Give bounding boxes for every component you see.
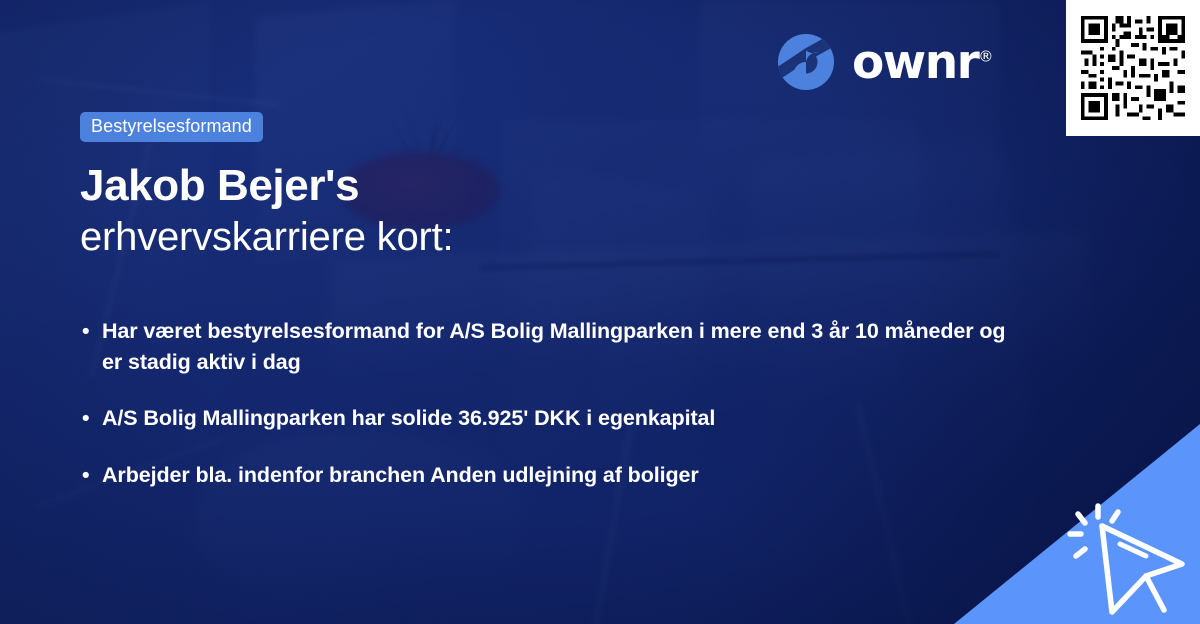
title-name: Jakob Bejer's [80, 162, 980, 210]
office-background-photo [0, 0, 1200, 624]
qr-code-panel[interactable] [1066, 0, 1200, 136]
click-cursor-icon [1060, 496, 1190, 616]
list-item: • Har været bestyrelsesformand for A/S B… [82, 316, 1022, 378]
ownr-wordmark: ownr® [852, 39, 993, 86]
bullet-dot-icon: • [82, 316, 102, 347]
bullet-dot-icon: • [82, 403, 102, 434]
business-card-banner: ownr® Bestyrelsesformand Jakob Bejer's e… [0, 0, 1200, 624]
list-item-text: Arbejder bla. indenfor branchen Anden ud… [102, 460, 1022, 491]
list-item: • Arbejder bla. indenfor branchen Anden … [82, 460, 1022, 491]
list-item: • A/S Bolig Mallingparken har solide 36.… [82, 403, 1022, 434]
wordmark-text: ownr [852, 35, 978, 90]
ownr-circle-swoosh-icon [776, 32, 836, 92]
bullet-dot-icon: • [82, 460, 102, 491]
headline-block: Bestyrelsesformand Jakob Bejer's erhverv… [80, 112, 980, 260]
list-item-text: Har været bestyrelsesformand for A/S Bol… [102, 316, 1022, 378]
title-subtitle: erhvervskarriere kort: [80, 214, 980, 260]
qr-code-icon[interactable] [1077, 12, 1189, 124]
career-facts-list: • Har været bestyrelsesformand for A/S B… [82, 316, 1022, 491]
background-vignette [0, 0, 1200, 624]
page-title: Jakob Bejer's erhvervskarriere kort: [80, 162, 980, 260]
role-badge: Bestyrelsesformand [80, 112, 263, 142]
list-item-text: A/S Bolig Mallingparken har solide 36.92… [102, 403, 1022, 434]
registered-mark: ® [978, 47, 993, 65]
ownr-logo[interactable]: ownr® [776, 32, 993, 92]
